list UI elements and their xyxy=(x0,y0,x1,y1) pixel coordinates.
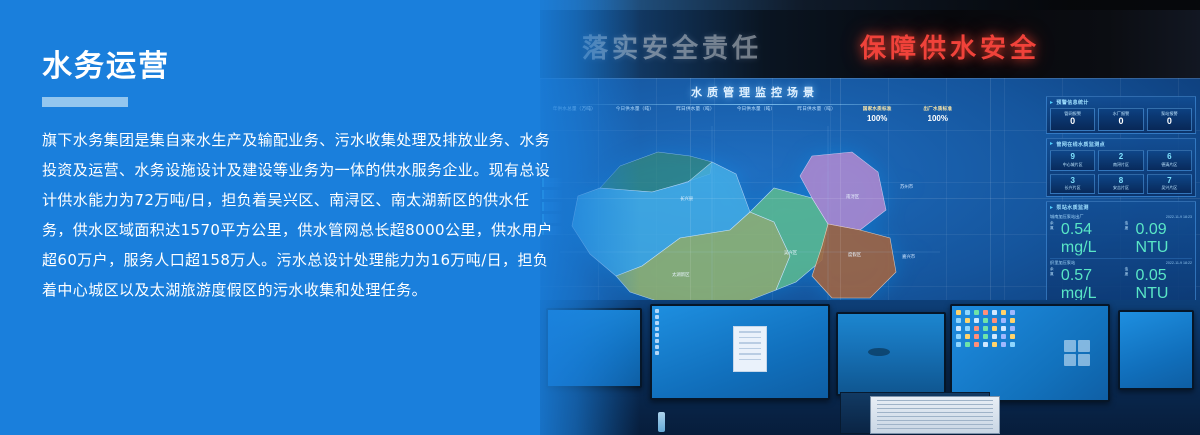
pump-log-header: 织里加压泵站 2022-11-9 18:22 xyxy=(1050,260,1192,266)
alarm-card[interactable]: 泵站报警 0 xyxy=(1147,108,1192,131)
windows-logo-icon xyxy=(1064,340,1090,366)
panel-header: ▸ 泵站水质监测 xyxy=(1050,204,1192,211)
kpi-item-plant-standard: 出厂水质标准 100% xyxy=(909,108,966,123)
desktop-dialog-window[interactable] xyxy=(733,326,767,372)
pump-log-metrics: 余氯 0.57 mg/L 浊度 0.05 NTU xyxy=(1050,267,1192,303)
caret-icon: ▸ xyxy=(1050,100,1053,106)
monitor-point-value: 6 xyxy=(1148,153,1191,162)
kpi-value: 100% xyxy=(909,115,966,123)
caret-icon: ▸ xyxy=(1050,141,1053,147)
monitor-point-cell[interactable]: 7 吴兴片区 xyxy=(1147,174,1192,195)
pump-log-name: 城南加压泵站出厂 xyxy=(1050,214,1084,220)
map-label: 太湖新区 xyxy=(672,271,690,278)
pump-log-name: 织里加压泵站 xyxy=(1050,260,1075,266)
alarm-card-value: 0 xyxy=(1099,117,1142,127)
monitor-remote-desktop[interactable] xyxy=(650,304,830,400)
desktop-icon[interactable] xyxy=(965,326,970,331)
desktop-icon[interactable] xyxy=(974,342,979,347)
windows-icon-grid xyxy=(956,310,1015,347)
kpi-label: 出厂水质标准 xyxy=(909,108,966,113)
kpi-item-national-standard: 国家水质标准 100% xyxy=(849,108,906,123)
desktop-icon[interactable] xyxy=(655,339,659,343)
pump-log-metrics: 余氯 0.54 mg/L 浊度 0.09 NTU xyxy=(1050,221,1192,257)
desktop-icon[interactable] xyxy=(974,318,979,323)
desktop-icon[interactable] xyxy=(655,309,659,313)
desktop-icon[interactable] xyxy=(992,318,997,323)
monitor-point-grid: 9 中心城片区 2 南浔片区 6 德清片区 3 xyxy=(1050,150,1192,195)
description-paragraph: 旗下水务集团是集自来水生产及输配业务、污水收集处理及排放业务、水务投资及运营、水… xyxy=(42,125,557,305)
alarm-card-value: 0 xyxy=(1148,117,1191,127)
desktop-icon[interactable] xyxy=(1010,334,1015,339)
diver-silhouette xyxy=(868,348,890,356)
kpi-item: 昨日供水量（吨） xyxy=(667,108,724,114)
desktop-icon[interactable] xyxy=(974,310,979,315)
desktop-icon[interactable] xyxy=(1010,342,1015,347)
page-title: 水务运营 xyxy=(42,50,560,83)
monitor-point-caption: 南浔片区 xyxy=(1099,162,1142,168)
desktop-icon[interactable] xyxy=(1001,310,1006,315)
pump-log-row[interactable]: 城南加压泵站出厂 2022-11-9 18:23 余氯 0.54 mg/L 浊度… xyxy=(1050,213,1192,259)
map-label: 吴兴区 xyxy=(784,249,798,256)
pump-log-metric-value: 0.54 mg/L xyxy=(1061,221,1120,257)
monitor-point-caption: 吴兴片区 xyxy=(1148,185,1191,191)
desktop-icon[interactable] xyxy=(655,345,659,349)
pump-log-metric-value: 0.05 NTU xyxy=(1136,267,1192,303)
map-label: 度假区 xyxy=(848,251,862,258)
pump-log-metric-label: 余氯 xyxy=(1050,221,1056,257)
banner-section: 落实安全责任 保障供水安全 水质管理监控场景 年供水总量（万吨） 今日供水量（吨… xyxy=(0,0,1200,435)
pump-log-metric-value: 0.57 mg/L xyxy=(1061,267,1120,303)
alarm-card-row: 管网报警 0 水厂报警 0 泵站报警 0 xyxy=(1050,108,1192,131)
desktop-icon[interactable] xyxy=(992,334,997,339)
desktop-icon[interactable] xyxy=(992,342,997,347)
monitor-point-cell[interactable]: 2 南浔片区 xyxy=(1098,150,1143,171)
monitor-point-value: 2 xyxy=(1099,153,1142,162)
monitor-point-value: 9 xyxy=(1051,153,1094,162)
desktop-icon[interactable] xyxy=(983,342,988,347)
pump-log-metric-label: 浊度 xyxy=(1125,221,1131,257)
desktop-icon[interactable] xyxy=(956,326,961,331)
panel-title: 泵站水质监测 xyxy=(1056,204,1088,211)
monitor-point-caption: 德清片区 xyxy=(1148,162,1191,168)
monitor-point-cell[interactable]: 6 德清片区 xyxy=(1147,150,1192,171)
monitor-point-caption: 中心城片区 xyxy=(1051,162,1094,168)
desktop-icon[interactable] xyxy=(983,318,988,323)
desktop-icon[interactable] xyxy=(1010,326,1015,331)
desktop-icon-column xyxy=(655,309,659,355)
desktop-icon[interactable] xyxy=(1001,326,1006,331)
alarm-card[interactable]: 水厂报警 0 xyxy=(1098,108,1143,131)
desktop-icon[interactable] xyxy=(655,351,659,355)
desktop-icon[interactable] xyxy=(956,342,961,347)
alarm-card-value: 0 xyxy=(1051,117,1094,127)
panel-title: 管网在线水质监测点 xyxy=(1056,141,1105,148)
alarm-card[interactable]: 管网报警 0 xyxy=(1050,108,1095,131)
desktop-icon[interactable] xyxy=(956,318,961,323)
desktop-icon[interactable] xyxy=(1001,318,1006,323)
map-label: 长兴县 xyxy=(680,195,694,202)
desktop-icon[interactable] xyxy=(1001,334,1006,339)
map-label-outside: 苏州市 xyxy=(900,183,914,190)
kpi-label: 昨日供水量（吨） xyxy=(667,108,724,113)
desktop-icon[interactable] xyxy=(655,315,659,319)
monitor-point-caption: 安吉片区 xyxy=(1099,185,1142,191)
desktop-icon[interactable] xyxy=(1001,342,1006,347)
panel-alarm-stats: ▸ 预警信息统计 管网报警 0 水厂报警 0 泵站报警 xyxy=(1046,96,1196,134)
desktop-icon[interactable] xyxy=(1010,318,1015,323)
map-label-outside: 嘉兴市 xyxy=(902,253,916,260)
monitor-point-cell[interactable]: 8 安吉片区 xyxy=(1098,174,1143,195)
desktop-icon[interactable] xyxy=(956,310,961,315)
title-accent-bar xyxy=(42,97,128,107)
desktop-icon[interactable] xyxy=(965,318,970,323)
desktop-icon[interactable] xyxy=(956,334,961,339)
monitor-point-caption: 长兴片区 xyxy=(1051,185,1094,191)
water-bottle xyxy=(658,412,665,432)
kpi-label: 今日供水量（吨） xyxy=(728,108,785,113)
kpi-item: 昨日供水量（吨） xyxy=(788,108,845,114)
desktop-icon[interactable] xyxy=(992,310,997,315)
dashboard-right-column: ▸ 预警信息统计 管网报警 0 水厂报警 0 泵站报警 xyxy=(1046,96,1196,314)
desktop-icon[interactable] xyxy=(974,326,979,331)
desktop-icon[interactable] xyxy=(965,342,970,347)
pump-log-metric-label: 浊度 xyxy=(1125,267,1131,303)
text-content: 水务运营 旗下水务集团是集自来水生产及输配业务、污水收集处理及排放业务、水务投资… xyxy=(0,0,560,435)
pump-log-metric-value: 0.09 NTU xyxy=(1136,221,1192,257)
desktop-icon[interactable] xyxy=(655,321,659,325)
kpi-value: 100% xyxy=(849,115,906,123)
laptop-device[interactable] xyxy=(870,396,1000,434)
monitor-point-cell[interactable]: 3 长兴片区 xyxy=(1050,174,1095,195)
kpi-item: 今日供水量（吨） xyxy=(728,108,785,114)
panel-header: ▸ 预警信息统计 xyxy=(1050,99,1192,106)
monitor-side-right[interactable] xyxy=(1118,310,1194,390)
desktop-icon[interactable] xyxy=(965,310,970,315)
pump-log-header: 城南加压泵站出厂 2022-11-9 18:23 xyxy=(1050,214,1192,220)
pump-log-time: 2022-11-9 18:22 xyxy=(1166,261,1192,265)
desktop-icon[interactable] xyxy=(983,310,988,315)
panel-online-monitor-points: ▸ 管网在线水质监测点 9 中心城片区 2 南浔片区 6 xyxy=(1046,138,1196,198)
desktop-icon[interactable] xyxy=(983,334,988,339)
map-label: 南浔区 xyxy=(846,193,860,200)
monitor-point-cell[interactable]: 9 中心城片区 xyxy=(1050,150,1095,171)
wall-slogan-right: 保障供水安全 xyxy=(860,28,1040,65)
pump-log-metric-label: 余氯 xyxy=(1050,267,1056,303)
panel-title: 预警信息统计 xyxy=(1056,99,1088,106)
kpi-label: 国家水质标准 xyxy=(849,108,906,113)
monitor-windows-workstation[interactable] xyxy=(950,304,1110,402)
monitor-underwater-camera[interactable] xyxy=(836,312,946,396)
desktop-icon[interactable] xyxy=(965,334,970,339)
pump-log-row[interactable]: 织里加压泵站 2022-11-9 18:22 余氯 0.57 mg/L 浊度 0… xyxy=(1050,259,1192,305)
kpi-label: 昨日供水量（吨） xyxy=(788,108,845,113)
desktop-icon[interactable] xyxy=(655,333,659,337)
desktop-icon[interactable] xyxy=(974,334,979,339)
desktop-icon[interactable] xyxy=(1010,310,1015,315)
desktop-icon[interactable] xyxy=(992,326,997,331)
caret-icon: ▸ xyxy=(1050,205,1053,211)
pump-log-time: 2022-11-9 18:23 xyxy=(1166,215,1192,219)
desktop-icon[interactable] xyxy=(655,327,659,331)
panel-header: ▸ 管网在线水质监测点 xyxy=(1050,141,1192,148)
desktop-icon[interactable] xyxy=(983,326,988,331)
description-block: 旗下水务集团是集自来水生产及输配业务、污水收集处理及排放业务、水务投资及运营、水… xyxy=(42,125,557,305)
